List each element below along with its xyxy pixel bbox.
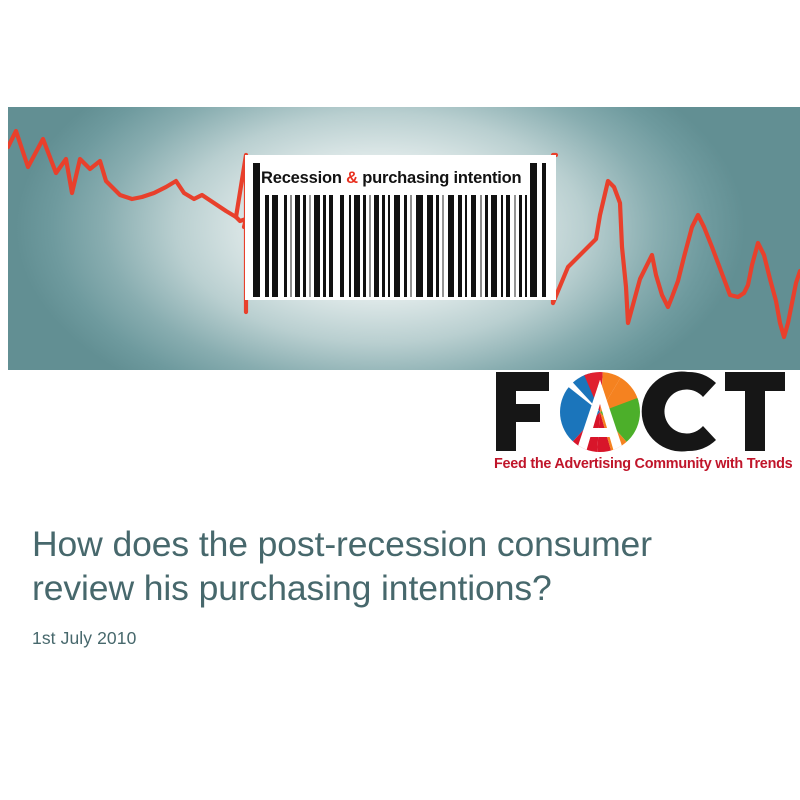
presentation-date: 1st July 2010: [32, 627, 762, 649]
logo-emblem-a: [552, 368, 650, 468]
barcode-caption: Recession & purchasing intention: [261, 167, 543, 189]
barcode-caption-ampersand: &: [346, 169, 358, 187]
chart-line-left: [8, 131, 246, 227]
logo-letter-c: [642, 372, 716, 452]
fact-tagline: Feed the Advertising Community with Tren…: [494, 455, 788, 473]
barcode-caption-prefix: Recession: [261, 169, 346, 187]
logo-letter-t: [725, 372, 785, 451]
chart-line-right: [553, 181, 800, 337]
logo-letter-f: [496, 372, 549, 451]
barcode-caption-suffix: purchasing intention: [358, 169, 522, 187]
title-block: How does the post-recession consumer rev…: [32, 522, 762, 649]
page-title: How does the post-recession consumer rev…: [32, 522, 762, 610]
fact-logo: Feed the Advertising Community with Tren…: [492, 368, 790, 478]
barcode-panel: Recession & purchasing intention: [245, 155, 556, 300]
